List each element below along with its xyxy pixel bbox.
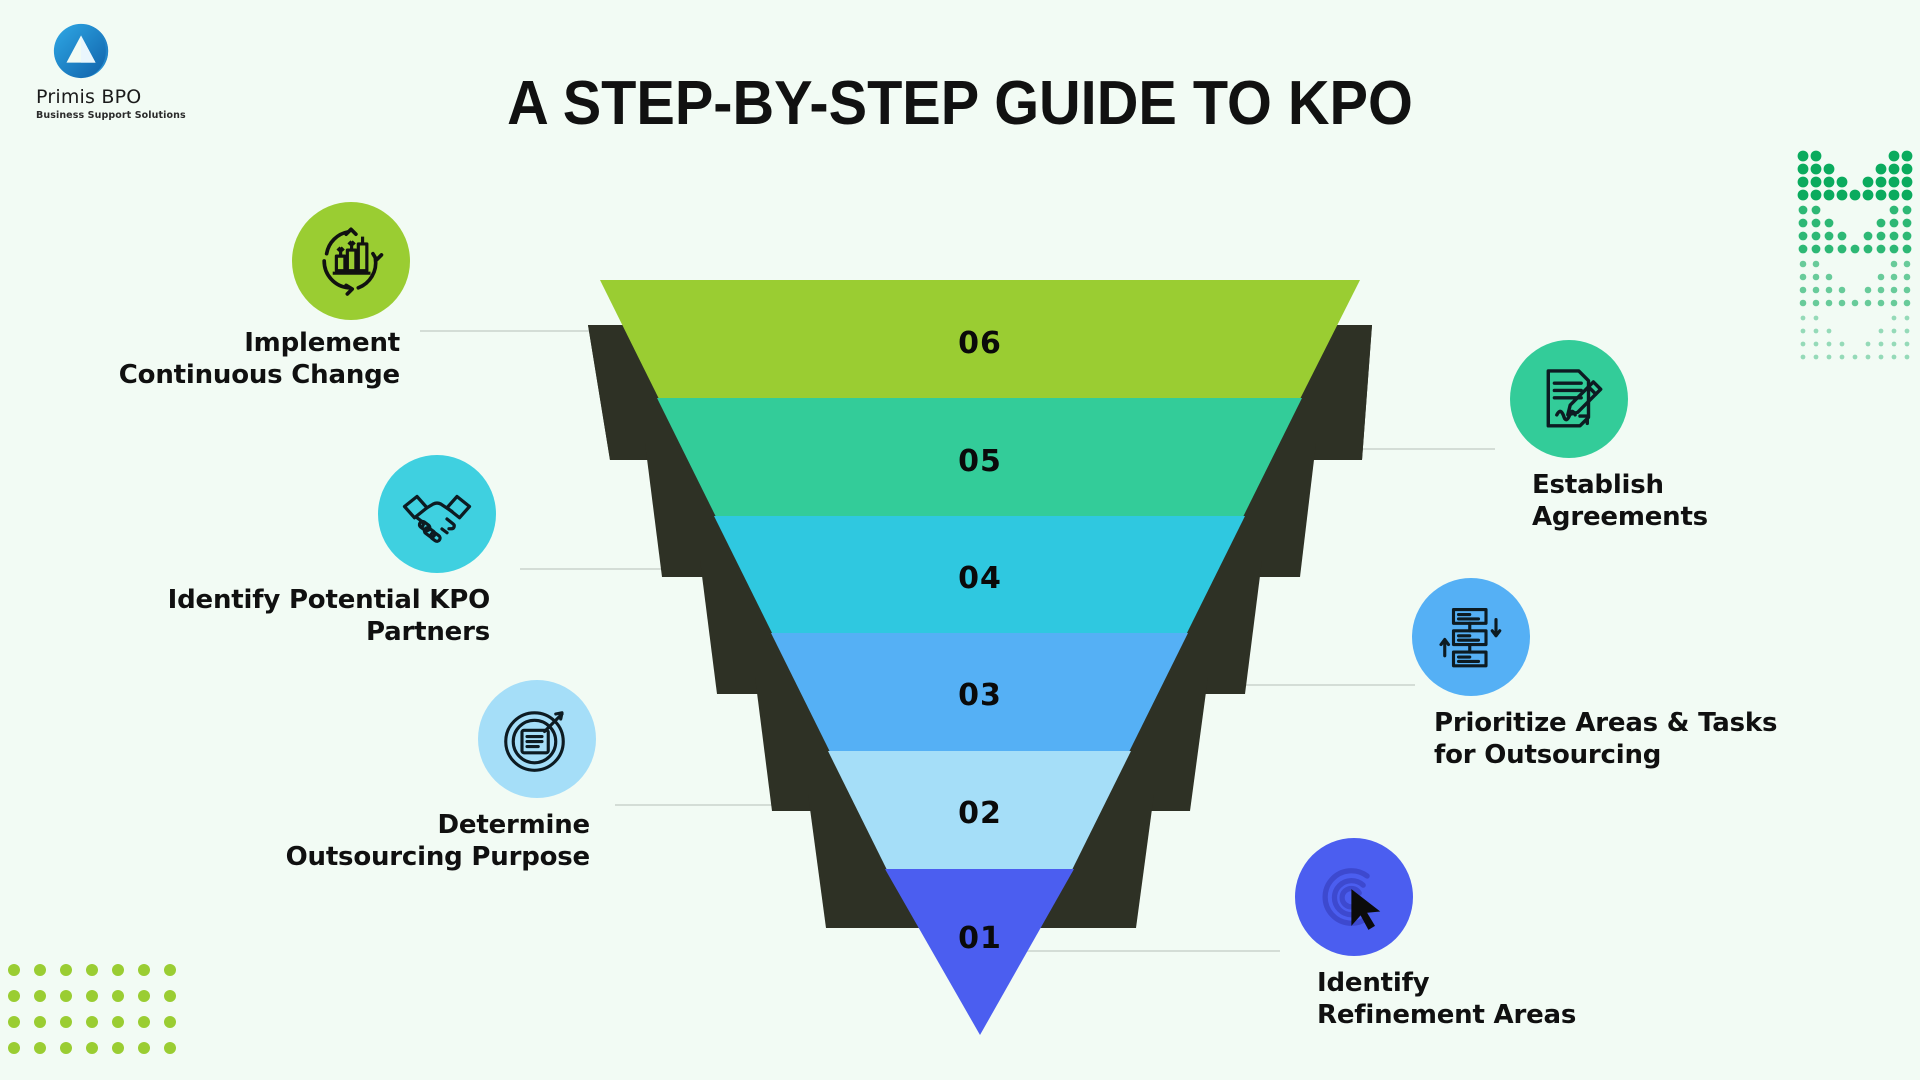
- grid-dot-pattern: [8, 962, 198, 1072]
- step-identify-potential-kpo-partners[interactable]: Identify Potential KPO Partners: [40, 455, 510, 655]
- step-prioritize-areas-tasks[interactable]: Prioritize Areas & Tasks for Outsourcing: [1412, 578, 1920, 778]
- target-checklist-icon: [497, 699, 577, 779]
- contract-signing-icon: [1530, 360, 1608, 438]
- step-label-determine-outsourcing-purpose: Determine Outsourcing Purpose: [150, 810, 590, 873]
- step-label-identify-potential-kpo-partners: Identify Potential KPO Partners: [40, 585, 490, 648]
- label-line-1: Implement: [244, 328, 400, 358]
- handshake-icon-circle[interactable]: [378, 455, 496, 573]
- funnel-diagram: 06 05 04 03 02 01: [600, 280, 1360, 1040]
- label-line-2: Outsourcing Purpose: [286, 842, 590, 872]
- label-line-1: Identify Potential KPO: [168, 585, 490, 615]
- label-line-1: Identify: [1317, 968, 1429, 998]
- target-checklist-icon-circle[interactable]: [478, 680, 596, 798]
- click-target-cursor-icon: [1312, 855, 1396, 939]
- growth-cycle-icon: [312, 222, 390, 300]
- growth-cycle-icon-circle[interactable]: [292, 202, 410, 320]
- label-line-2: Continuous Change: [119, 360, 400, 390]
- infographic-canvas: Primis BPO Business Support Solutions A …: [0, 0, 1920, 1080]
- prioritize-list-icon: [1431, 597, 1511, 677]
- step-identify-refinement-areas[interactable]: Identify Refinement Areas: [1295, 838, 1745, 1038]
- page-title: A STEP-BY-STEP GUIDE TO KPO: [67, 68, 1853, 139]
- label-line-2: Refinement Areas: [1317, 1000, 1576, 1030]
- funnel-number-03: 03: [920, 678, 1040, 713]
- funnel-number-01: 01: [920, 921, 1040, 956]
- funnel-number-06: 06: [920, 326, 1040, 361]
- funnel-number-02: 02: [920, 796, 1040, 831]
- label-line-2: for Outsourcing: [1434, 740, 1661, 770]
- step-label-establish-agreements: Establish Agreements: [1532, 470, 1920, 533]
- step-label-implement-continuous-change: Implement Continuous Change: [0, 328, 400, 391]
- step-determine-outsourcing-purpose[interactable]: Determine Outsourcing Purpose: [150, 680, 610, 880]
- step-label-prioritize-areas-tasks: Prioritize Areas & Tasks for Outsourcing: [1434, 708, 1920, 771]
- label-line-2: Partners: [366, 617, 490, 647]
- step-label-identify-refinement-areas: Identify Refinement Areas: [1317, 968, 1747, 1031]
- click-target-cursor-icon-circle[interactable]: [1295, 838, 1413, 956]
- label-line-1: Determine: [438, 810, 590, 840]
- funnel-number-04: 04: [920, 561, 1040, 596]
- contract-signing-icon-circle[interactable]: [1510, 340, 1628, 458]
- label-line-1: Establish: [1532, 470, 1664, 500]
- label-line-2: Agreements: [1532, 502, 1708, 532]
- funnel-number-05: 05: [920, 444, 1040, 479]
- label-line-1: Prioritize Areas & Tasks: [1434, 708, 1777, 738]
- prioritize-list-icon-circle[interactable]: [1412, 578, 1530, 696]
- step-implement-continuous-change[interactable]: Implement Continuous Change: [0, 190, 420, 390]
- chevron-dot-pattern: [1794, 148, 1916, 398]
- handshake-icon: [397, 474, 477, 554]
